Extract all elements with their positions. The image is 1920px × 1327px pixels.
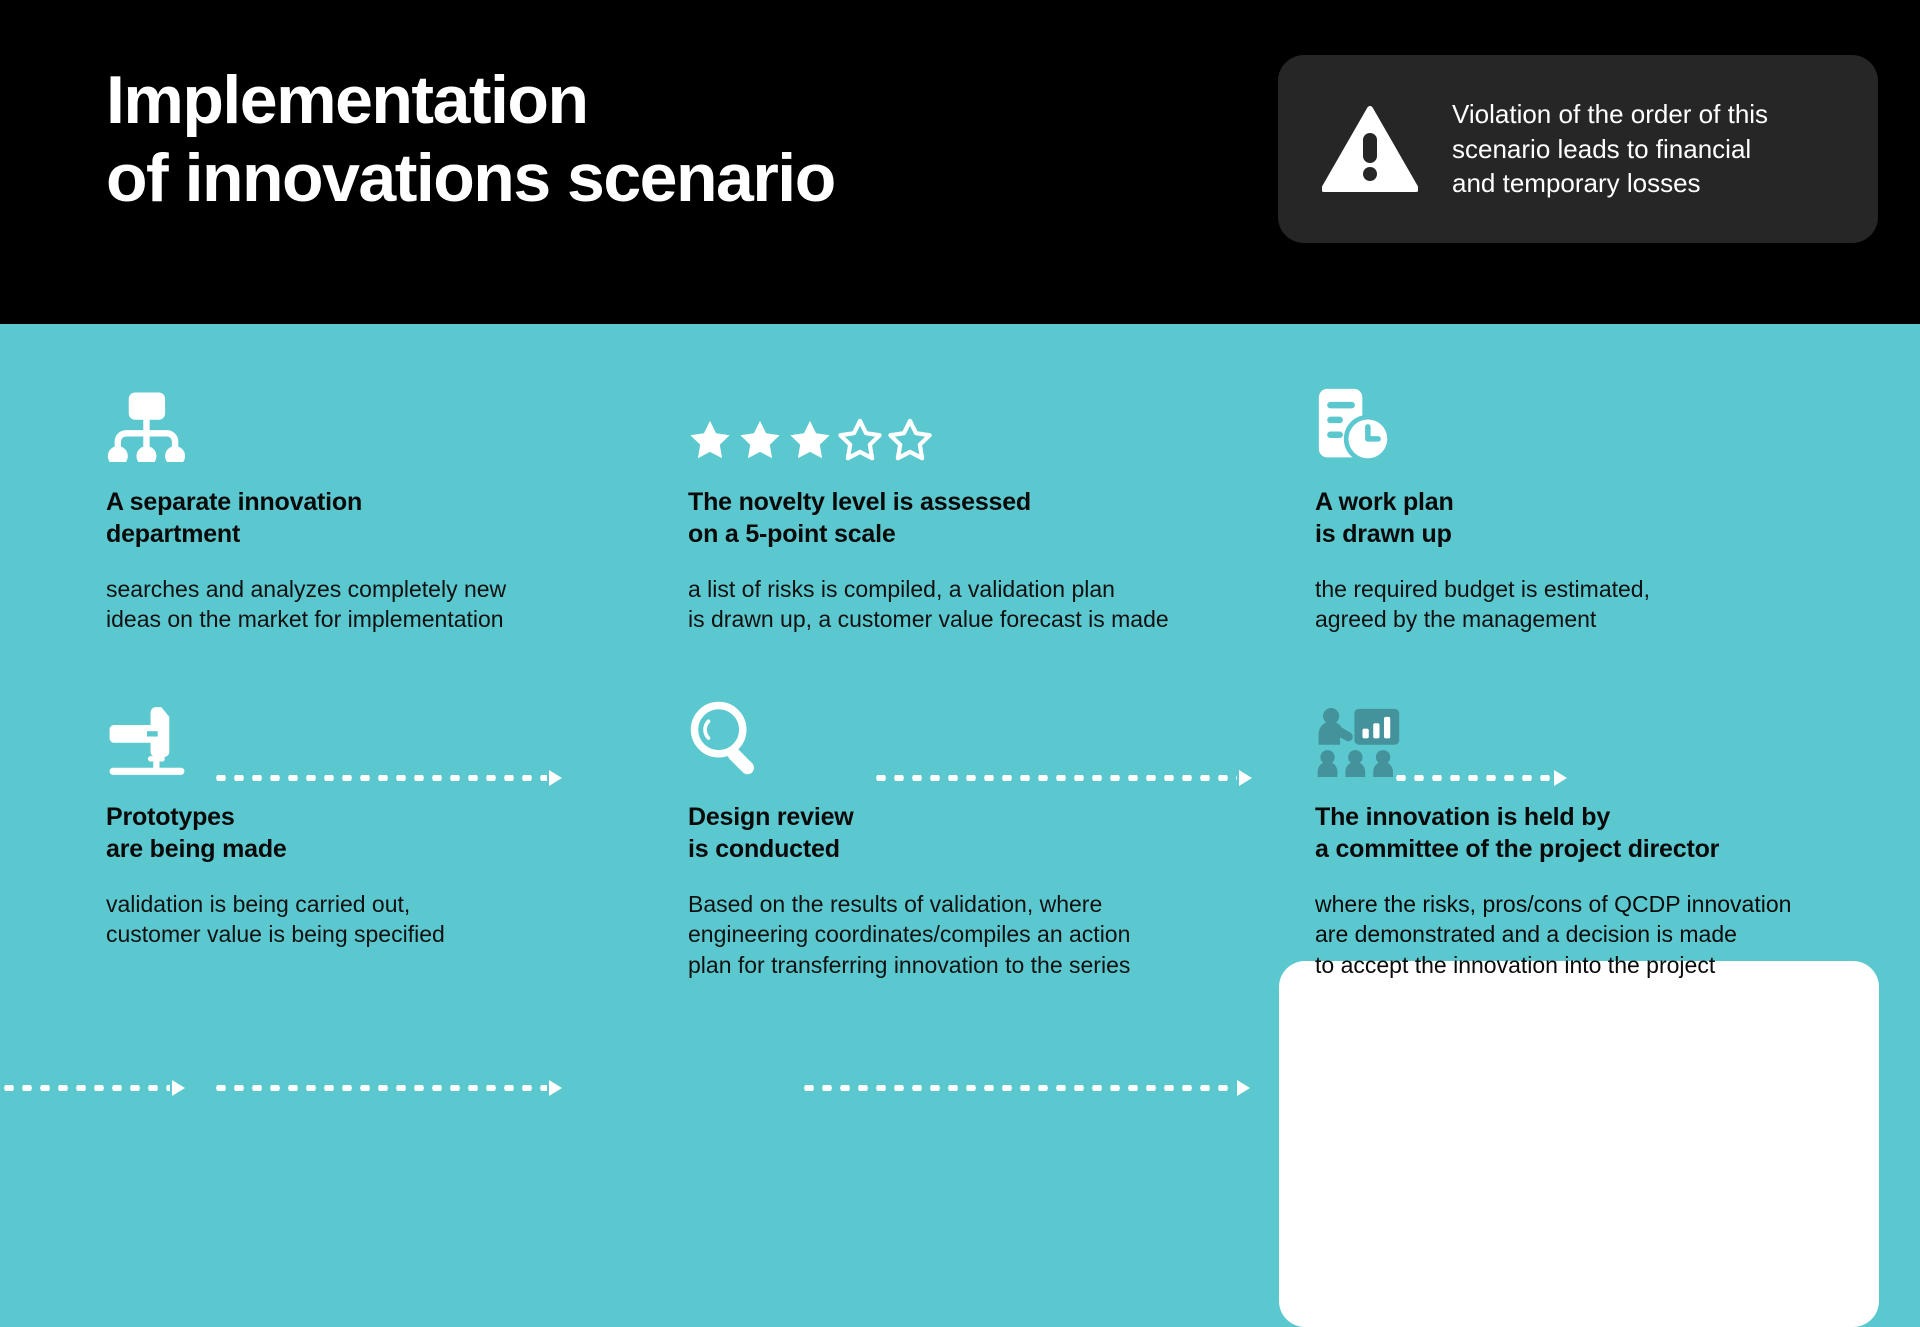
step-4-description: validation is being carried out, custome… bbox=[106, 889, 706, 950]
scenario-board: A separate innovation department searche… bbox=[0, 324, 1920, 1080]
star-filled-icon bbox=[738, 418, 782, 462]
step-4[interactable]: Prototypes are being made validation is … bbox=[106, 699, 706, 950]
step-4-title: Prototypes are being made bbox=[106, 801, 706, 865]
page-title: Implementation of innovations scenario bbox=[106, 62, 835, 217]
warning-text: Violation of the order of this scenario … bbox=[1452, 97, 1768, 201]
step-1-description: searches and analyzes completely new ide… bbox=[106, 574, 706, 635]
step-5-title: Design review is conducted bbox=[688, 801, 1288, 865]
step-5-description: Based on the results of validation, wher… bbox=[688, 889, 1288, 980]
step-3-title: A work plan is drawn up bbox=[1315, 486, 1915, 550]
connector-5-to-6 bbox=[800, 1082, 1250, 1094]
dotted-line bbox=[800, 1085, 1235, 1091]
arrow-head-icon bbox=[172, 1080, 185, 1096]
step-3-description: the required budget is estimated, agreed… bbox=[1315, 574, 1915, 635]
step-2[interactable]: The novelty level is assessed on a 5-poi… bbox=[688, 384, 1288, 635]
connector-4-to-5 bbox=[212, 1082, 562, 1094]
arrow-head-icon bbox=[1239, 770, 1252, 786]
document-clock-icon bbox=[1315, 384, 1915, 462]
presentation-audience-icon bbox=[1315, 699, 1915, 777]
star-filled-icon bbox=[688, 418, 732, 462]
step-5[interactable]: Design review is conducted Based on the … bbox=[688, 699, 1288, 980]
arrow-head-icon bbox=[549, 770, 562, 786]
dotted-line bbox=[212, 775, 547, 781]
connector-wrap-to-4 bbox=[0, 1082, 185, 1094]
step-2-description: a list of risks is compiled, a validatio… bbox=[688, 574, 1288, 635]
step-6-title: The innovation is held by a committee of… bbox=[1315, 801, 1915, 865]
hammer-nail-icon bbox=[106, 699, 706, 777]
step-1-title: A separate innovation department bbox=[106, 486, 706, 550]
highlighted-step-card bbox=[1279, 961, 1879, 1327]
connector-2-to-3 bbox=[872, 772, 1252, 784]
step-3[interactable]: A work plan is drawn up the required bud… bbox=[1315, 384, 1915, 635]
warning-callout: Violation of the order of this scenario … bbox=[1278, 55, 1878, 243]
arrow-head-icon bbox=[1237, 1080, 1250, 1096]
star-outline-icon bbox=[888, 418, 932, 462]
warning-triangle-icon bbox=[1322, 105, 1418, 193]
org-chart-icon bbox=[106, 384, 706, 462]
page-header: Implementation of innovations scenario V… bbox=[0, 0, 1920, 324]
dotted-line bbox=[872, 775, 1237, 781]
star-filled-icon bbox=[788, 418, 832, 462]
step-2-title: The novelty level is assessed on a 5-poi… bbox=[688, 486, 1288, 550]
magnifying-glass-icon bbox=[688, 699, 1288, 777]
arrow-head-icon bbox=[549, 1080, 562, 1096]
step-6-description: where the risks, pros/cons of QCDP innov… bbox=[1315, 889, 1915, 980]
step-1[interactable]: A separate innovation department searche… bbox=[106, 384, 706, 635]
star-outline-icon bbox=[838, 418, 882, 462]
dotted-line bbox=[212, 1085, 547, 1091]
five-star-rating-icon bbox=[688, 384, 1288, 462]
step-6[interactable]: The innovation is held by a committee of… bbox=[1315, 699, 1915, 980]
connector-1-to-2 bbox=[212, 772, 562, 784]
dotted-line bbox=[0, 1085, 170, 1091]
